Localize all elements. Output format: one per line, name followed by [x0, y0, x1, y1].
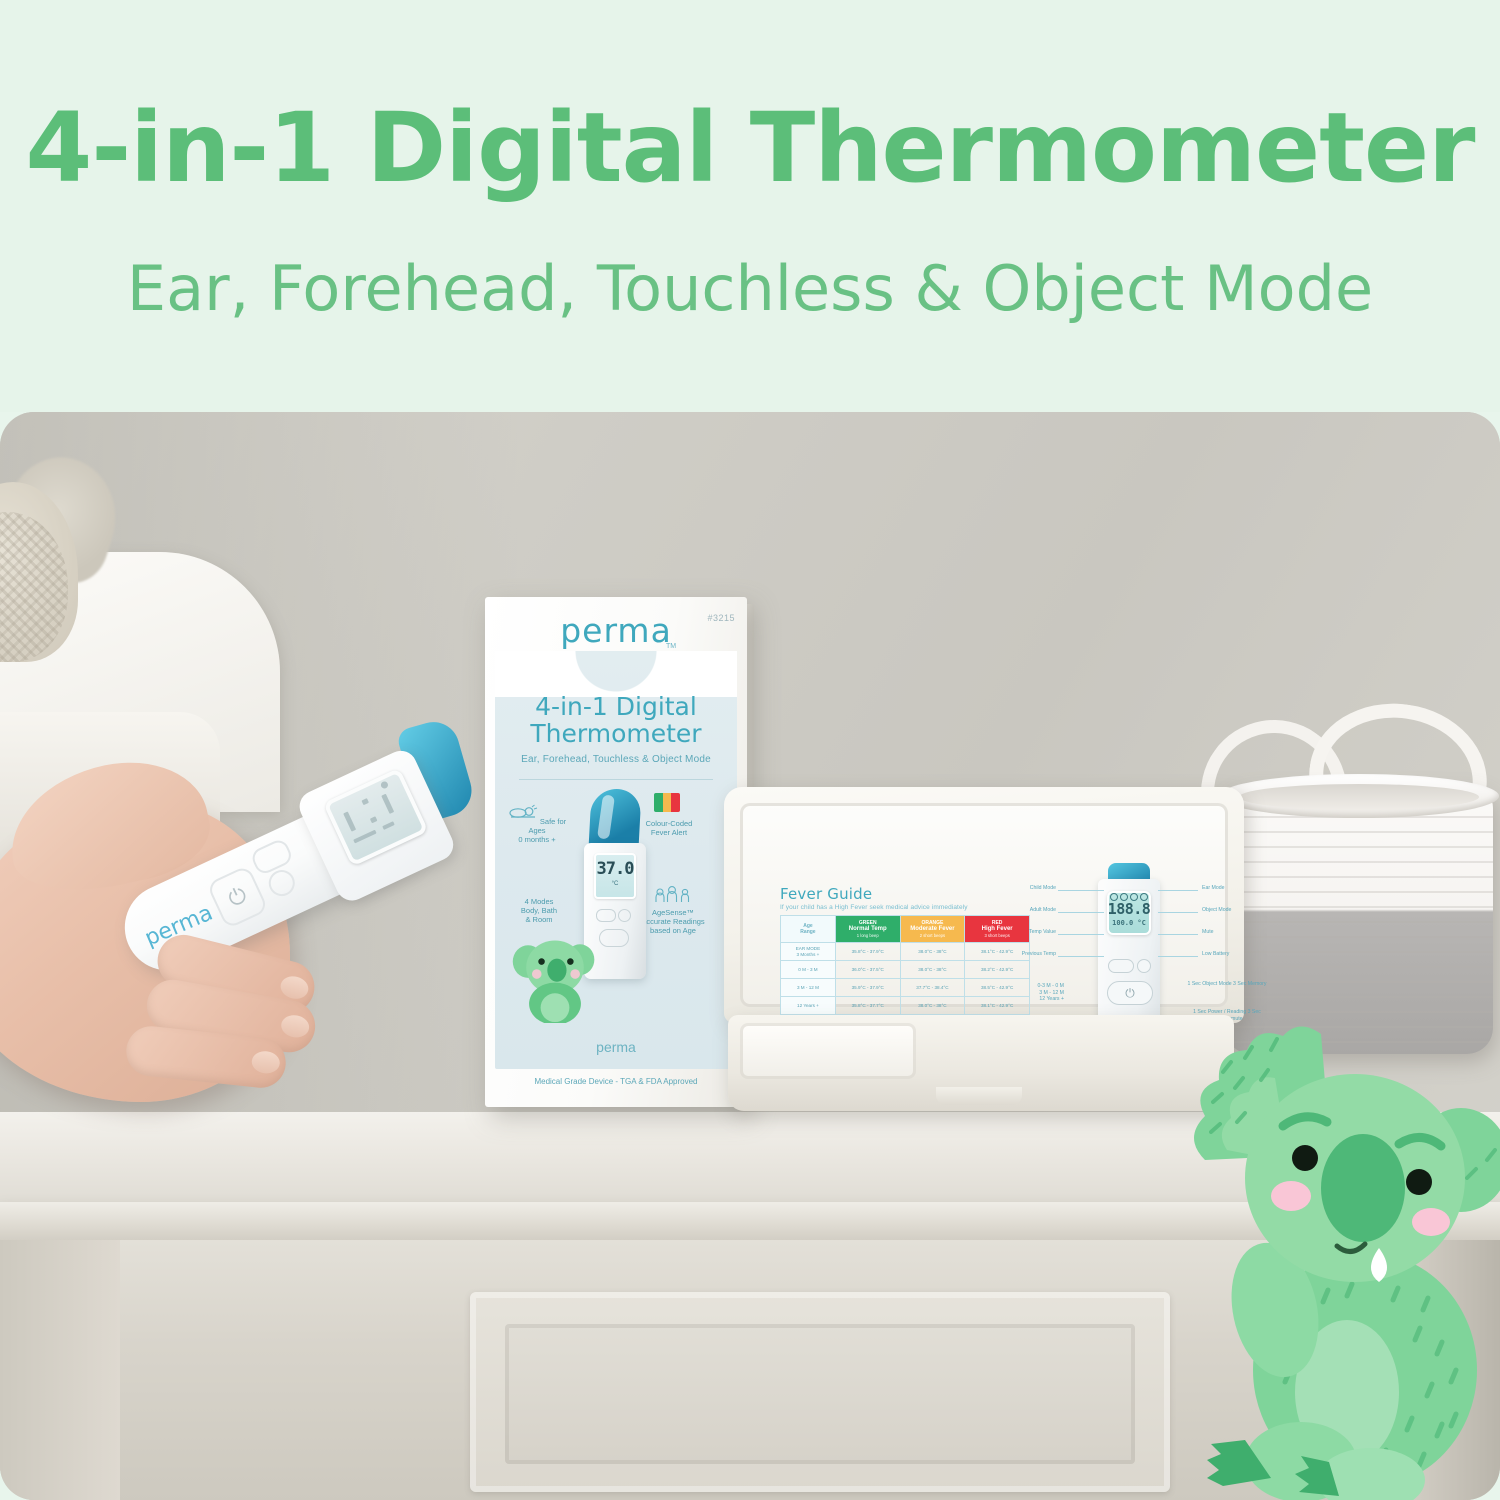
- box-feature-agesense-line1: AgeSense™: [652, 908, 694, 917]
- dresser-left-edge: [0, 1240, 120, 1500]
- diagram-label-child-mode: Child Mode: [990, 885, 1056, 892]
- koala-eye-right: [1406, 1169, 1432, 1195]
- leader-line: [1158, 912, 1198, 913]
- fever-guide-col-age: Age Range: [781, 916, 836, 943]
- box-footer-note: Medical Grade Device - TGA & FDA Approve…: [485, 1077, 747, 1086]
- hand-holding-thermometer: ⏻ perma: [0, 742, 440, 1172]
- page-title: 4-in-1 Digital Thermometer: [0, 92, 1500, 204]
- box-divider: [519, 779, 713, 780]
- case-base-compartment: [740, 1023, 916, 1079]
- diagram-label-previous-temp: Previous Temp: [990, 951, 1056, 958]
- crying-koala-mascot: [1175, 1010, 1500, 1500]
- lifestyle-photo: perma TM #3215 4-in-1 Digital Thermomete…: [0, 412, 1500, 1500]
- diagram-label-temp-value: Temp Value: [990, 929, 1056, 936]
- flag-colour-bars-icon: [654, 793, 680, 812]
- diagram-note-object-memory: 1 Sec Object Mode 3 Sec Memory: [1186, 981, 1268, 988]
- diagram-label-low-battery: Low Battery: [1202, 951, 1270, 958]
- box-feature-modes-line3: & Room: [525, 915, 552, 924]
- row-orange-2: 37.7°C - 38.4°C: [900, 979, 965, 997]
- box-feature-modes-line2: Body, Bath: [521, 906, 557, 915]
- box-device-button-memory: [618, 909, 631, 922]
- box-feature-colour-coded-line2: Fever Alert: [651, 828, 687, 837]
- row-green-3: 35.8°C - 37.7°C: [835, 997, 900, 1015]
- koala-cheek-left: [1271, 1181, 1311, 1211]
- row-age-1: 0 M - 3 M: [781, 961, 836, 979]
- product-box: perma TM #3215 4-in-1 Digital Thermomete…: [485, 597, 747, 1107]
- koala-mascot-illustration: [1175, 1010, 1500, 1500]
- box-title: 4-in-1 Digital Thermometer: [485, 693, 747, 747]
- diagram-age-legend: 0-3 M - 0 M 3 M - 12 M 12 Years +: [990, 983, 1064, 1003]
- row-orange-1: 38.0°C - 38°C: [900, 961, 965, 979]
- box-feature-agesense-line2: Accurate Readings: [641, 917, 704, 926]
- box-device-reading: 37.0: [594, 859, 636, 879]
- box-feature-modes: 4 Modes Body, Bath & Room: [501, 897, 577, 924]
- row-green-1: 36.0°C - 37.5°C: [835, 961, 900, 979]
- row-age-2: 3 M - 12 M: [781, 979, 836, 997]
- box-title-line1: 4-in-1 Digital: [535, 692, 697, 721]
- dresser-drawer-panel: [505, 1324, 1135, 1464]
- family-icon: [653, 885, 693, 903]
- box-subtitle: Ear, Forehead, Touchless & Object Mode: [485, 754, 747, 765]
- diagram-lcd-main-value: 188.8: [1107, 900, 1151, 918]
- page-subtitle: Ear, Forehead, Touchless & Object Mode: [0, 252, 1500, 325]
- box-feature-agesense-line3: based on Age: [650, 926, 696, 935]
- leader-line: [1158, 890, 1198, 891]
- leader-line: [1158, 956, 1198, 957]
- baby-sleeping-icon: [508, 803, 538, 821]
- diagram-lcd-secondary-value: 100.0 °C: [1107, 919, 1151, 927]
- case-clasp: [936, 1087, 1022, 1105]
- box-feature-colour-coded-line1: Colour-Coded: [646, 819, 693, 828]
- box-device-button-power: [599, 929, 629, 947]
- box-feature-safe-ages: Safe for Ages 0 months +: [499, 803, 575, 844]
- box-feature-modes-line1: 4 Modes: [525, 897, 554, 906]
- diagram-button-power: ⏻: [1107, 981, 1153, 1005]
- basket-rim-inner: [1239, 784, 1479, 810]
- row-age-3: 12 Years +: [781, 997, 836, 1015]
- box-feature-safe-ages-line2: 0 months +: [518, 835, 555, 844]
- row-age-0: EAR MODE 3 Months +: [781, 943, 836, 961]
- leader-line: [1058, 912, 1104, 913]
- diagram-label-mute: Mute: [1202, 929, 1270, 936]
- box-sku: #3215: [707, 613, 735, 623]
- header-band: 4-in-1 Digital Thermometer Ear, Forehead…: [0, 0, 1500, 412]
- row-orange-0: 38.0°C - 38°C: [900, 943, 965, 961]
- diagram-label-adult-mode: Adult Mode: [990, 907, 1056, 914]
- diagram-button-memory: [1137, 959, 1151, 973]
- box-koala-mascot: [507, 927, 603, 1023]
- product-box-notch: [495, 651, 737, 697]
- box-title-line2: Thermometer: [530, 719, 701, 748]
- leader-line: [1058, 890, 1104, 891]
- leader-line: [1058, 934, 1104, 935]
- box-device-button-mode: [596, 909, 616, 922]
- row-orange-3: 38.0°C - 38°C: [900, 997, 965, 1015]
- case-lid-insert: Fever Guide If your child has a High Fev…: [740, 803, 1228, 1007]
- box-device-probe-cap: [588, 789, 641, 851]
- row-green-2: 35.9°C - 37.9°C: [835, 979, 900, 997]
- fever-guide-col-orange: ORANGE Moderate Fever 2 short beeps: [900, 916, 965, 943]
- diagram-label-object-mode: Object Mode: [1202, 907, 1270, 914]
- row-green-0: 35.8°C - 37.9°C: [835, 943, 900, 961]
- product-marketing-image: 4-in-1 Digital Thermometer Ear, Forehead…: [0, 0, 1500, 1500]
- box-brand-tm: TM: [666, 643, 676, 650]
- diagram-button-mode: [1108, 959, 1134, 973]
- koala-eye-left: [1292, 1145, 1318, 1171]
- diagram-label-ear-mode: Ear Mode: [1202, 885, 1270, 892]
- koala-cheek-right: [1412, 1208, 1450, 1236]
- box-device-unit: °C: [594, 881, 636, 887]
- box-footer-brand: perma: [485, 1039, 747, 1055]
- koala-illustration: [507, 927, 603, 1023]
- knitted-plush-toy: [0, 442, 160, 662]
- fever-guide-col-green: GREEN Normal Temp 1 long beep: [835, 916, 900, 943]
- leader-line: [1058, 956, 1104, 957]
- leader-line: [1158, 934, 1198, 935]
- koala-nose: [1321, 1134, 1405, 1242]
